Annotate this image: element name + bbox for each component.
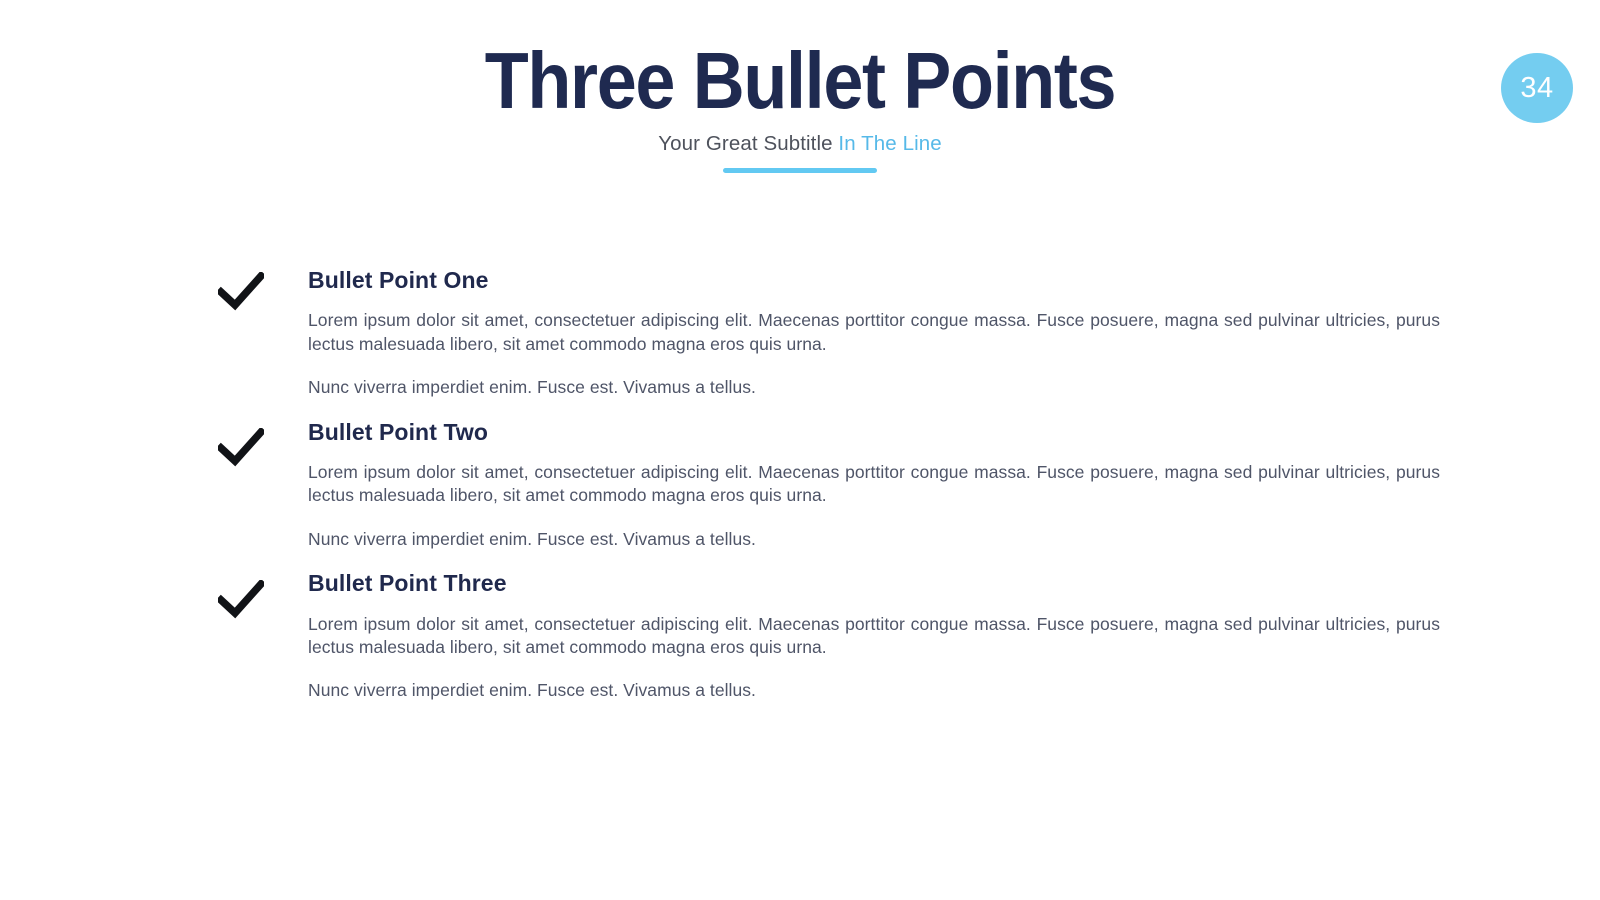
page-number-badge: 34 (1501, 53, 1573, 123)
page-number-value: 34 (1520, 72, 1553, 105)
page-title: Three Bullet Points (80, 44, 1520, 118)
slide-subtitle: Your Great Subtitle In The Line (0, 132, 1600, 156)
list-item: Bullet Point Three Lorem ipsum dolor sit… (216, 571, 1440, 703)
check-icon (218, 428, 264, 468)
subtitle-main-text: Your Great Subtitle (658, 132, 838, 155)
bullet-paragraph-primary: Lorem ipsum dolor sit amet, consectetuer… (308, 613, 1440, 660)
list-item: Bullet Point One Lorem ipsum dolor sit a… (216, 268, 1440, 400)
check-icon (218, 272, 264, 312)
check-icon (218, 580, 264, 620)
bullet-paragraph-secondary: Nunc viverra imperdiet enim. Fusce est. … (308, 528, 1440, 551)
subtitle-accent-text: In The Line (838, 132, 941, 155)
bullet-paragraph-primary: Lorem ipsum dolor sit amet, consectetuer… (308, 461, 1440, 508)
bullet-heading: Bullet Point One (308, 268, 1440, 293)
list-item: Bullet Point Two Lorem ipsum dolor sit a… (216, 420, 1440, 552)
subtitle-underline-bar (723, 168, 877, 173)
bullet-list: Bullet Point One Lorem ipsum dolor sit a… (216, 268, 1440, 703)
slide-header: Three Bullet Points Your Great Subtitle … (0, 44, 1600, 173)
bullet-paragraph-primary: Lorem ipsum dolor sit amet, consectetuer… (308, 309, 1440, 356)
slide-canvas: Three Bullet Points Your Great Subtitle … (0, 0, 1600, 900)
bullet-heading: Bullet Point Three (308, 571, 1440, 596)
bullet-paragraph-secondary: Nunc viverra imperdiet enim. Fusce est. … (308, 376, 1440, 399)
bullet-heading: Bullet Point Two (308, 420, 1440, 445)
bullet-paragraph-secondary: Nunc viverra imperdiet enim. Fusce est. … (308, 679, 1440, 702)
